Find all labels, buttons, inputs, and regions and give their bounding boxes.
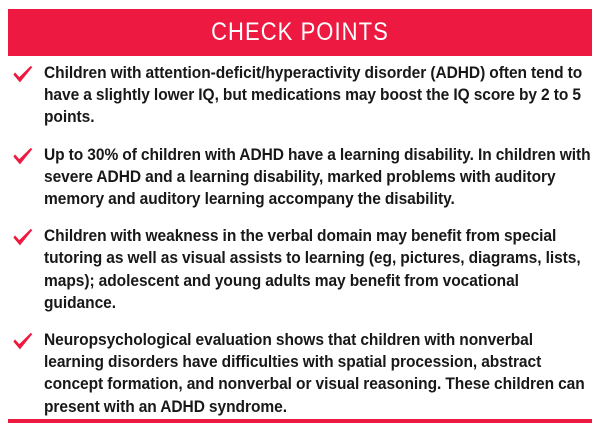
page-title: CHECK POINTS [211, 20, 389, 45]
check-points-list: Children with attention-deficit/hyperact… [8, 62, 592, 418]
list-item: Children with weakness in the verbal dom… [8, 225, 592, 314]
list-item: Neuropsychological evaluation shows that… [8, 329, 592, 418]
red-check-icon [12, 65, 34, 85]
list-item: Up to 30% of children with ADHD have a l… [8, 144, 592, 211]
red-check-icon [12, 147, 34, 167]
red-check-icon [12, 228, 34, 248]
list-item-text: Neuropsychological evaluation shows that… [44, 329, 592, 418]
list-item: Children with attention-deficit/hyperact… [8, 62, 592, 129]
list-item-text: Up to 30% of children with ADHD have a l… [44, 144, 592, 211]
bottom-divider [8, 419, 592, 423]
list-item-text: Children with attention-deficit/hyperact… [44, 62, 592, 129]
header-band: CHECK POINTS [8, 9, 592, 56]
red-check-icon [12, 332, 34, 352]
list-item-text: Children with weakness in the verbal dom… [44, 225, 592, 314]
check-points-card: CHECK POINTS Children with attention-def… [0, 0, 600, 441]
